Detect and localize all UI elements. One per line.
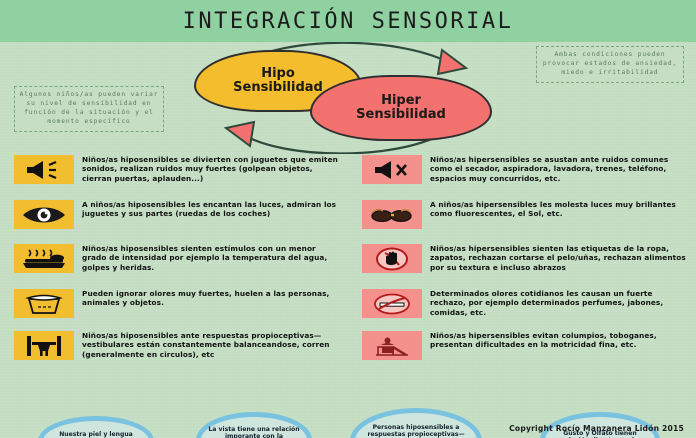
row-text: Niños/as hiposensibles sienten estímulos… xyxy=(82,243,342,272)
fact-ellipse-proprioceptive: Personas hiposensibles a respuestas prop… xyxy=(350,408,482,438)
trash-bin-smell-icon xyxy=(14,289,74,318)
row-proprio-hiper: Niños/as hipersensibles evitan columpios… xyxy=(348,330,696,374)
row-text: Niños/as hipersensibles se asustan ante … xyxy=(430,154,690,183)
hiper-sensibilidad-cloud: Hiper Sensibilidad xyxy=(310,75,492,141)
comparison-rows: Niños/as hiposensibles se divierten con … xyxy=(0,154,696,374)
hipo-label-line2: Sensibilidad xyxy=(233,81,323,95)
table-row: Niños/as hiposensibles ante respuestas p… xyxy=(0,330,696,374)
fact-text: La vista tiene una relación imporante co… xyxy=(201,426,307,438)
slide-playground-icon xyxy=(362,331,422,360)
poster-header: INTEGRACIÓN SENSORIAL xyxy=(0,0,696,42)
table-row: Niños/as hiposensibles se divierten con … xyxy=(0,154,696,199)
fact-text: Personas hiposensibles a respuestas prop… xyxy=(355,424,477,438)
fact-ellipse-vision: La vista tiene una relación imporante co… xyxy=(196,412,312,438)
infographic-poster: INTEGRACIÓN SENSORIAL Algunos niños/as p… xyxy=(0,0,696,438)
speaker-loud-icon xyxy=(14,155,74,184)
hot-plate-icon xyxy=(14,244,74,273)
speaker-muted-icon xyxy=(362,155,422,184)
row-text: A niños/as hipersensibles les molesta lu… xyxy=(430,199,690,219)
fact-text: Nuestra piel y lengua tienen una gran ca… xyxy=(43,431,149,438)
no-touch-hand-icon xyxy=(362,244,422,273)
no-smoking-icon xyxy=(362,289,422,318)
row-text: Pueden ignorar olores muy fuertes, huele… xyxy=(82,288,342,308)
row-vision-hiper: A niños/as hipersensibles les molesta lu… xyxy=(348,199,696,243)
hiper-label-line1: Hiper xyxy=(356,94,446,108)
poster-body: Algunos niños/as pueden variar su nivel … xyxy=(0,42,696,438)
table-row: Niños/as hiposensibles sienten estímulos… xyxy=(0,243,696,288)
sunglasses-icon xyxy=(362,200,422,229)
hipo-label-line1: Hipo xyxy=(233,67,323,81)
table-row: Pueden ignorar olores muy fuertes, huele… xyxy=(0,288,696,330)
row-text: Determinados olores cotidianos les causa… xyxy=(430,288,690,317)
note-box-right: Ambas condiciones pueden provocar estado… xyxy=(536,46,684,83)
row-touch-hiper: Niños/as hipersensibles sienten las etiq… xyxy=(348,243,696,288)
eye-icon xyxy=(14,200,74,229)
row-touch-hipo: Niños/as hiposensibles sienten estímulos… xyxy=(0,243,348,288)
row-text: A niños/as hiposensibles les encantan la… xyxy=(82,199,342,219)
fact-ellipse-tactile: Nuestra piel y lengua tienen una gran ca… xyxy=(38,416,154,438)
table-row: A niños/as hiposensibles les encantan la… xyxy=(0,199,696,243)
row-text: Niños/as hiposensibles ante respuestas p… xyxy=(82,330,342,359)
row-text: Niños/as hipersensibles sienten las etiq… xyxy=(430,243,690,272)
row-proprio-hipo: Niños/as hiposensibles ante respuestas p… xyxy=(0,330,348,374)
row-smell-hiper: Determinados olores cotidianos les causa… xyxy=(348,288,696,330)
row-hearing-hiper: Niños/as hipersensibles se asustan ante … xyxy=(348,154,696,199)
row-text: Niños/as hipersensibles evitan columpios… xyxy=(430,330,690,350)
copyright-notice: Copyright Rocío Manzanera Lidón 2015 xyxy=(509,424,684,433)
bottom-facts: Nuestra piel y lengua tienen una gran ca… xyxy=(0,408,696,438)
row-smell-hipo: Pueden ignorar olores muy fuertes, huele… xyxy=(0,288,348,330)
hiper-label-line2: Sensibilidad xyxy=(356,108,446,122)
row-text: Niños/as hiposensibles se divierten con … xyxy=(82,154,342,183)
row-hearing-hipo: Niños/as hiposensibles se divierten con … xyxy=(0,154,348,199)
note-box-left: Algunos niños/as pueden variar su nivel … xyxy=(14,86,164,132)
page-title: INTEGRACIÓN SENSORIAL xyxy=(183,9,514,34)
gymnast-rings-icon xyxy=(14,331,74,360)
row-vision-hipo: A niños/as hiposensibles les encantan la… xyxy=(0,199,348,243)
sensitivity-cycle-diagram: Hipo Sensibilidad Hiper Sensibilidad xyxy=(180,42,510,154)
